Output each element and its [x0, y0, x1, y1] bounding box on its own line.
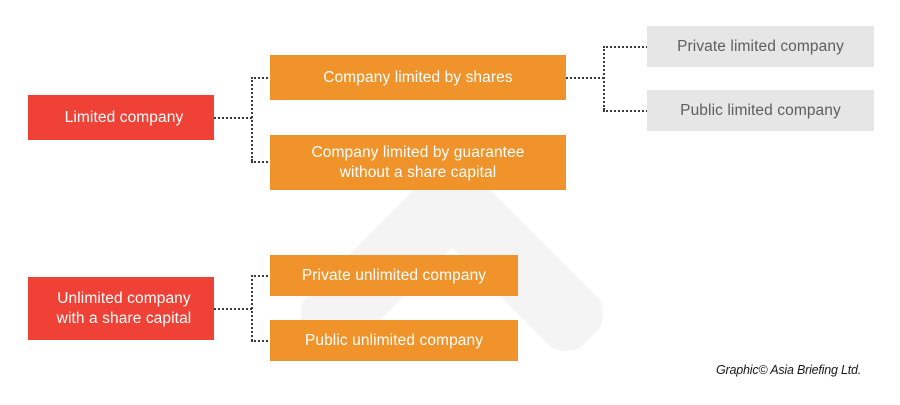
node-limited-company-label: Limited company: [28, 108, 214, 128]
connector-to-public-unlimited-company: [251, 340, 272, 342]
graphic-credit: Graphic© Asia Briefing Ltd.: [716, 363, 861, 377]
connector-to-public-limited-company: [603, 110, 648, 112]
node-company-limited-by-guarantee-label: Company limited by guarantee without a s…: [270, 143, 566, 183]
connector-shares-stem: [566, 77, 604, 79]
node-unlimited-company-label: Unlimited company with a share capital: [28, 289, 214, 329]
node-public-limited-company-label: Public limited company: [647, 101, 874, 121]
node-private-limited-company[interactable]: Private limited company: [647, 26, 874, 67]
node-private-unlimited-company[interactable]: Private unlimited company: [270, 255, 518, 296]
connector-to-company-limited-by-shares: [251, 77, 272, 79]
node-public-unlimited-company-label: Public unlimited company: [270, 331, 518, 351]
connector-limited-company-stem: [214, 117, 252, 119]
node-private-limited-company-label: Private limited company: [647, 37, 874, 57]
connector-unlimited-company-stem: [214, 308, 252, 310]
node-public-unlimited-company[interactable]: Public unlimited company: [270, 320, 518, 361]
node-company-limited-by-guarantee[interactable]: Company limited by guarantee without a s…: [270, 135, 566, 190]
connector-shares-trunk: [603, 46, 605, 110]
node-unlimited-company[interactable]: Unlimited company with a share capital: [28, 277, 214, 340]
node-public-limited-company[interactable]: Public limited company: [647, 90, 874, 131]
connector-unlimited-company-trunk: [251, 275, 253, 341]
node-company-limited-by-shares-label: Company limited by shares: [270, 68, 566, 88]
connector-to-private-limited-company: [603, 46, 648, 48]
node-company-limited-by-shares[interactable]: Company limited by shares: [270, 55, 566, 100]
node-private-unlimited-company-label: Private unlimited company: [270, 266, 518, 286]
connector-to-private-unlimited-company: [251, 275, 272, 277]
diagram-canvas: Limited company Company limited by share…: [0, 0, 900, 405]
connector-to-company-limited-by-guarantee: [251, 161, 272, 163]
connector-limited-company-trunk: [251, 77, 253, 161]
node-limited-company[interactable]: Limited company: [28, 95, 214, 140]
